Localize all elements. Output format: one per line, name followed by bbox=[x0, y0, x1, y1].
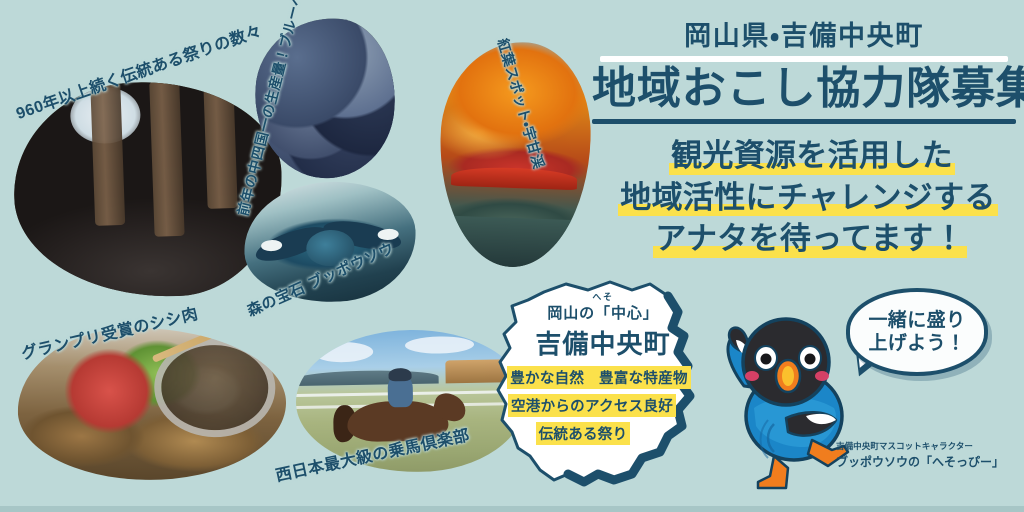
rider-helmet bbox=[389, 368, 412, 381]
speech-bubble-text: 一緒に盛り 上げよう！ bbox=[869, 309, 966, 355]
subhead-line-1-text: 観光資源を活用した bbox=[669, 135, 955, 177]
map-feature-1: 豊かな自然 豊富な特産物 bbox=[507, 366, 690, 389]
speech-line-2: 上げよう！ bbox=[869, 333, 966, 354]
map-feature-list: 豊かな自然 豊富な特産物 空港からのアクセス良好 伝統ある祭り bbox=[500, 361, 706, 445]
mascot-caption: 吉備中央町マスコットキャラクター ブッポウソウの「へそっぴー」 bbox=[836, 440, 1020, 470]
kicker-text: 岡山県・吉備中央町 bbox=[592, 22, 1016, 52]
poster-canvas: 960年以上続く伝統ある祭りの数々 前年の中四国一の生産量！ブルーベリー 紅葉ス… bbox=[0, 0, 1024, 512]
subhead-line-2-text: 地域活性にチャレンジする bbox=[618, 177, 997, 219]
map-feature-row: 空港からのアクセス良好 bbox=[500, 389, 706, 417]
subhead-block: 観光資源を活用した 地域活性にチャレンジする アナタを待ってます！ bbox=[600, 135, 1016, 260]
tree-trunk bbox=[150, 81, 185, 237]
mascot-name-label: ブッポウソウの「へそっぴー」 bbox=[836, 453, 1020, 470]
town-name: 吉備中央町 bbox=[500, 324, 706, 361]
map-feature-row: 豊かな自然 豊富な特産物 bbox=[500, 361, 706, 389]
subhead-line-3: アナタを待ってます！ bbox=[600, 218, 1016, 260]
map-lead-wrap: へそ 岡山の「中心」 bbox=[500, 302, 706, 323]
photo-bird bbox=[241, 178, 419, 307]
map-feature-2: 空港からのアクセス良好 bbox=[508, 394, 676, 417]
page-title: 地域おこし協力隊募集 bbox=[592, 63, 1016, 114]
mountain-ridge bbox=[295, 369, 438, 386]
map-feature-3: 伝統ある祭り bbox=[536, 422, 631, 445]
map-feature-row: 伝統ある祭り bbox=[500, 417, 706, 445]
subhead-line-2: 地域活性にチャレンジする bbox=[600, 177, 1016, 219]
okayama-map: へそ 岡山の「中心」 吉備中央町 豊かな自然 豊富な特産物 空港からのアクセス良… bbox=[492, 278, 714, 494]
subhead-line-1: 観光資源を活用した bbox=[600, 135, 1016, 177]
red-bridge bbox=[451, 166, 578, 191]
map-label-group: へそ 岡山の「中心」 吉備中央町 豊かな自然 豊富な特産物 空港からのアクセス良… bbox=[500, 302, 706, 445]
cloud bbox=[405, 336, 474, 354]
kicker-rule bbox=[600, 56, 1007, 62]
mascot-role-label: 吉備中央町マスコットキャラクター bbox=[836, 440, 1020, 452]
speech-line-1: 一緒に盛り bbox=[869, 310, 966, 331]
title-rule bbox=[592, 119, 1016, 124]
tree-trunk bbox=[91, 83, 126, 226]
photo-bird-art bbox=[241, 178, 419, 307]
headline-block: 岡山県・吉備中央町 地域おこし協力隊募集 bbox=[592, 22, 1016, 124]
cloud bbox=[313, 342, 373, 363]
map-lead-text: へそ 岡山の「中心」 bbox=[547, 302, 658, 323]
speech-bubble: 一緒に盛り 上げよう！ bbox=[846, 288, 988, 376]
ruby-heso: へそ bbox=[592, 290, 613, 303]
river-water bbox=[436, 215, 588, 270]
tree-trunk bbox=[203, 79, 237, 209]
subhead-line-3-text: アナタを待ってます！ bbox=[653, 218, 966, 260]
map-lead-label: 岡山の「中心」 bbox=[547, 305, 658, 322]
bottom-strip bbox=[0, 506, 1024, 512]
